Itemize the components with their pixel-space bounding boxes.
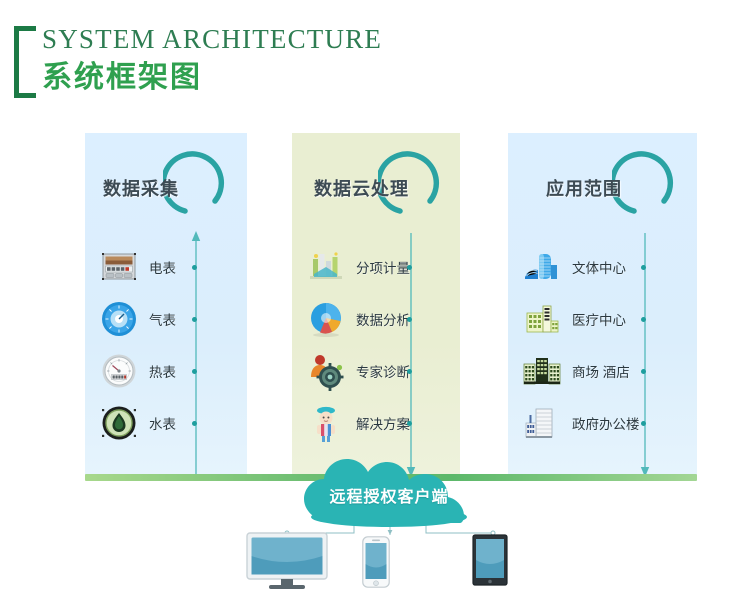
timeline-dot bbox=[407, 421, 412, 426]
remote-client-cloud[interactable]: 远程授权客户端 bbox=[294, 455, 484, 527]
list-item-label: 医疗中心 bbox=[572, 309, 626, 329]
panel-application-scope: 应用范围 bbox=[508, 133, 697, 478]
government-office-icon bbox=[522, 403, 562, 443]
chevron-right-icon bbox=[459, 168, 507, 230]
panel-header: 应用范围 bbox=[508, 133, 697, 233]
panel-data-cloud-processing: 数据云处理 分项计量 bbox=[292, 133, 460, 478]
sub-item-metering-icon bbox=[306, 247, 346, 287]
list-item-label: 专家诊断 bbox=[356, 361, 410, 381]
timeline-dot bbox=[192, 421, 197, 426]
list-item-label: 热表 bbox=[149, 361, 176, 381]
cloud-label: 远程授权客户端 bbox=[294, 483, 484, 507]
pie-chart-analysis-icon bbox=[306, 299, 346, 339]
list-item-label: 分项计量 bbox=[356, 257, 410, 277]
panel-header: 数据云处理 bbox=[292, 133, 460, 233]
timeline-dot bbox=[192, 317, 197, 322]
medical-center-icon bbox=[522, 299, 562, 339]
list-item-label: 解决方案 bbox=[356, 413, 410, 433]
timeline-dot bbox=[641, 265, 646, 270]
timeline-dot bbox=[641, 317, 646, 322]
list-item[interactable]: 水表 bbox=[85, 397, 247, 449]
timeline-dot bbox=[407, 369, 412, 374]
list-item-label: 水表 bbox=[149, 413, 176, 433]
list-item[interactable]: 热表 bbox=[85, 345, 247, 397]
panel-header: 数据采集 bbox=[85, 133, 247, 233]
timeline-dot bbox=[192, 369, 197, 374]
expert-diagnosis-icon bbox=[306, 351, 346, 391]
list-item-label: 电表 bbox=[149, 257, 176, 277]
timeline-dot bbox=[641, 369, 646, 374]
chevron-right-icon bbox=[245, 168, 293, 230]
list-item[interactable]: 医疗中心 bbox=[508, 293, 697, 345]
panel-title: 应用范围 bbox=[546, 175, 622, 201]
culture-sports-center-icon bbox=[522, 247, 562, 287]
mall-hotel-icon bbox=[522, 351, 562, 391]
list-item[interactable]: 政府办公楼 bbox=[508, 397, 697, 449]
list-item[interactable]: 解决方案 bbox=[292, 397, 460, 449]
timeline-dot bbox=[407, 317, 412, 322]
panel-title: 数据采集 bbox=[103, 175, 179, 201]
gas-meter-icon bbox=[99, 299, 139, 339]
solution-person-icon bbox=[306, 403, 346, 443]
timeline-dot bbox=[641, 421, 646, 426]
list-item[interactable]: 电表 bbox=[85, 241, 247, 293]
timeline-dot bbox=[192, 265, 197, 270]
water-meter-icon bbox=[99, 403, 139, 443]
page-header: SYSTEM ARCHITECTURE 系统框架图 bbox=[14, 22, 434, 104]
electric-meter-icon bbox=[99, 247, 139, 287]
list-item-label: 政府办公楼 bbox=[572, 413, 640, 433]
panel-data-collection: 数据采集 bbox=[85, 133, 247, 478]
list-item[interactable]: 文体中心 bbox=[508, 241, 697, 293]
panel-item-list: 文体中心 bbox=[508, 241, 697, 449]
panel-title: 数据云处理 bbox=[314, 175, 409, 201]
list-item-label: 商场 酒店 bbox=[572, 361, 630, 381]
panel-item-list: 分项计量 数据分析 bbox=[292, 241, 460, 449]
heat-meter-icon bbox=[99, 351, 139, 391]
list-item[interactable]: 气表 bbox=[85, 293, 247, 345]
list-item-label: 数据分析 bbox=[356, 309, 410, 329]
list-item[interactable]: 数据分析 bbox=[292, 293, 460, 345]
timeline-dot bbox=[407, 265, 412, 270]
list-item-label: 文体中心 bbox=[572, 257, 626, 277]
panel-item-list: 电表 气表 bbox=[85, 241, 247, 449]
open-bracket-icon bbox=[14, 26, 36, 98]
list-item[interactable]: 分项计量 bbox=[292, 241, 460, 293]
list-item-label: 气表 bbox=[149, 309, 176, 329]
header-english-title: SYSTEM ARCHITECTURE bbox=[42, 22, 382, 56]
list-item[interactable]: 专家诊断 bbox=[292, 345, 460, 397]
header-chinese-title: 系统框架图 bbox=[42, 58, 202, 98]
list-item[interactable]: 商场 酒店 bbox=[508, 345, 697, 397]
